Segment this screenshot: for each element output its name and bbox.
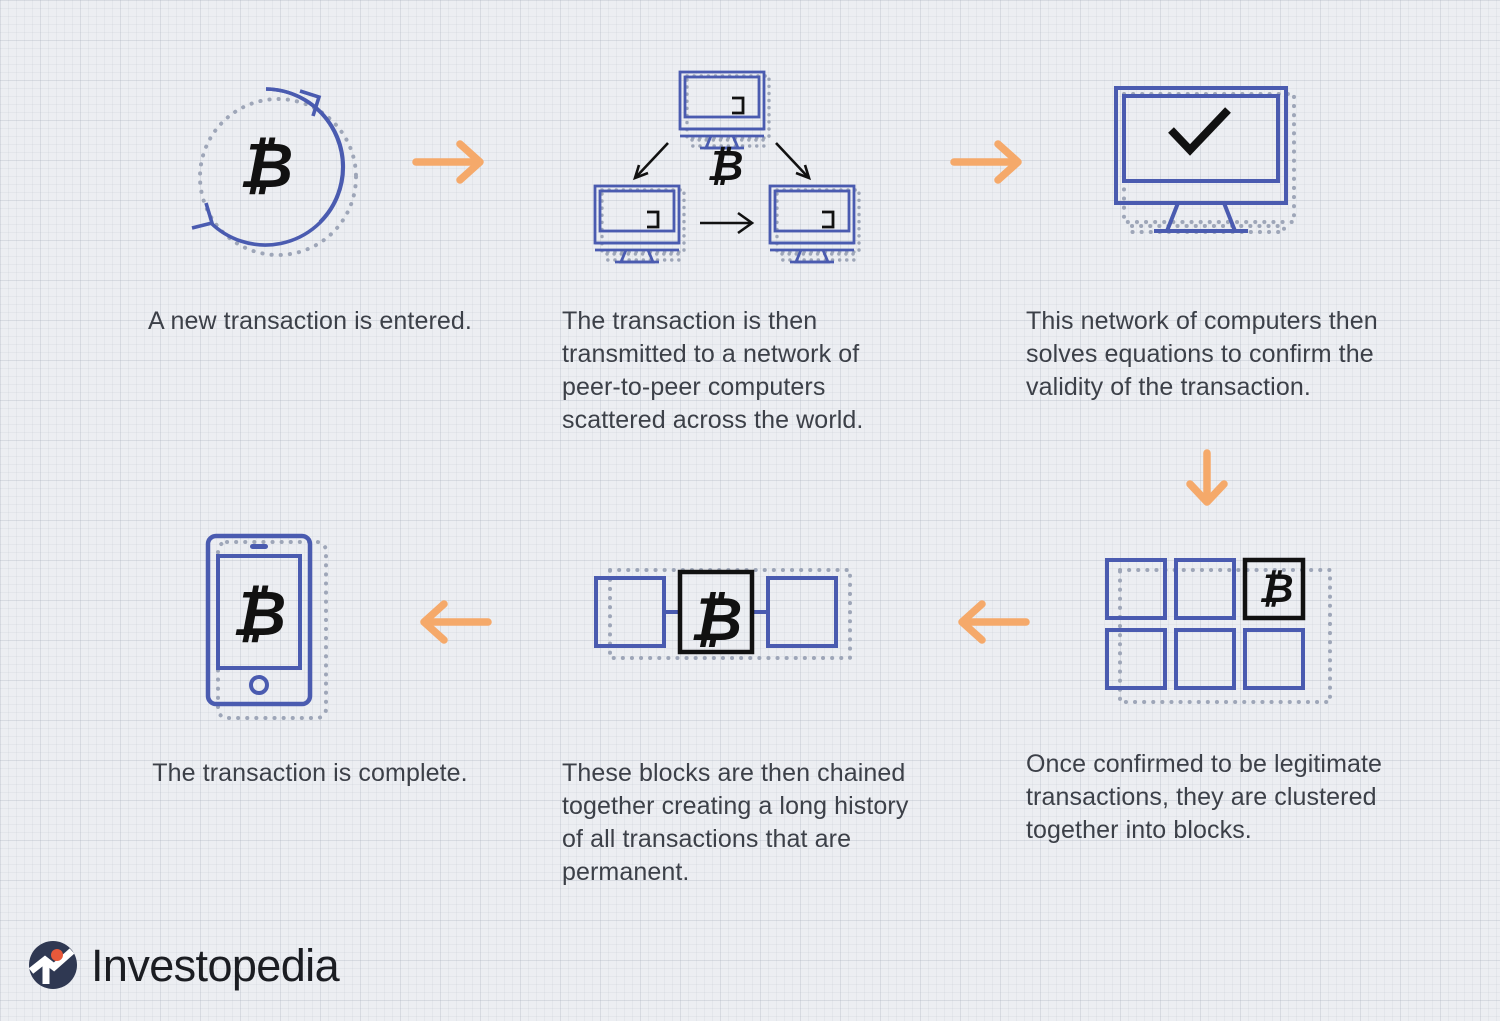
bitcoin-symbol: ₿ xyxy=(232,577,286,650)
arrow-down-right-icon xyxy=(776,143,809,178)
monitor-left xyxy=(595,186,684,262)
investopedia-logo[interactable]: Investopedia xyxy=(28,940,339,990)
step-2-caption: The transaction is then transmitted to a… xyxy=(562,305,982,437)
block-cell-4 xyxy=(1107,630,1165,688)
step-3-icon xyxy=(1110,82,1310,247)
bitcoin-symbol: ₿ xyxy=(690,585,743,655)
phone-home-button xyxy=(251,677,267,693)
chain-block-left xyxy=(596,578,664,646)
investopedia-mark-icon xyxy=(28,940,78,990)
arrow-left-icon xyxy=(950,598,1030,646)
arrow-right-icon xyxy=(950,138,1030,186)
arrow-down-left-icon xyxy=(635,143,668,178)
bitcoin-circular-arrows-icon: ₿ xyxy=(170,75,370,260)
blockchain-linked-blocks-icon: ₿ xyxy=(588,550,863,675)
step-2-icon: ₿ xyxy=(580,60,890,275)
bitcoin-symbol: ₿ xyxy=(1258,566,1293,612)
block-cell-5 xyxy=(1176,630,1234,688)
monitor-right xyxy=(770,186,859,262)
step-1-caption: A new transaction is entered. xyxy=(50,305,570,338)
block-cluster-icon: ₿ xyxy=(1100,552,1350,722)
arrow-3-to-4 xyxy=(1183,450,1231,512)
monitor-top xyxy=(680,72,769,148)
step-5-icon: ₿ xyxy=(588,550,863,675)
step-3-caption: This network of computers then solves eq… xyxy=(1026,305,1456,404)
step-4-caption: Once confirmed to be legitimate transact… xyxy=(1026,748,1466,847)
peer-to-peer-network-icon: ₿ xyxy=(580,60,890,275)
dotted-shadow xyxy=(1120,570,1330,702)
step-4-icon: ₿ xyxy=(1100,552,1350,722)
arrow-4-to-5 xyxy=(950,598,1030,646)
checkmark-icon xyxy=(1171,110,1228,150)
arrow-1-to-2 xyxy=(412,138,492,186)
step-5-caption: These blocks are then chained together c… xyxy=(562,757,982,889)
smartphone-bitcoin-icon: ₿ xyxy=(200,528,345,728)
investopedia-wordmark: Investopedia xyxy=(91,943,339,988)
step-1-icon: ₿ xyxy=(170,75,370,260)
phone-speaker xyxy=(250,544,268,549)
infographic-canvas: ₿ A new transaction is entered. xyxy=(0,0,1500,1021)
arrow-right-small-icon xyxy=(700,213,752,233)
bitcoin-symbol: ₿ xyxy=(239,129,293,202)
block-cell-6 xyxy=(1245,630,1303,688)
arrow-5-to-6 xyxy=(412,598,492,646)
chain-block-right xyxy=(768,578,836,646)
arrow-2-to-3 xyxy=(950,138,1030,186)
monitor-checkmark-icon xyxy=(1110,82,1310,247)
arrow-down-icon xyxy=(1183,450,1231,512)
arrow-right-icon xyxy=(412,138,492,186)
dotted-shadow xyxy=(1124,94,1294,232)
arrow-left-icon xyxy=(412,598,492,646)
step-6-caption: The transaction is complete. xyxy=(50,757,570,790)
step-6-icon: ₿ xyxy=(200,528,345,728)
bitcoin-symbol: ₿ xyxy=(707,141,744,190)
